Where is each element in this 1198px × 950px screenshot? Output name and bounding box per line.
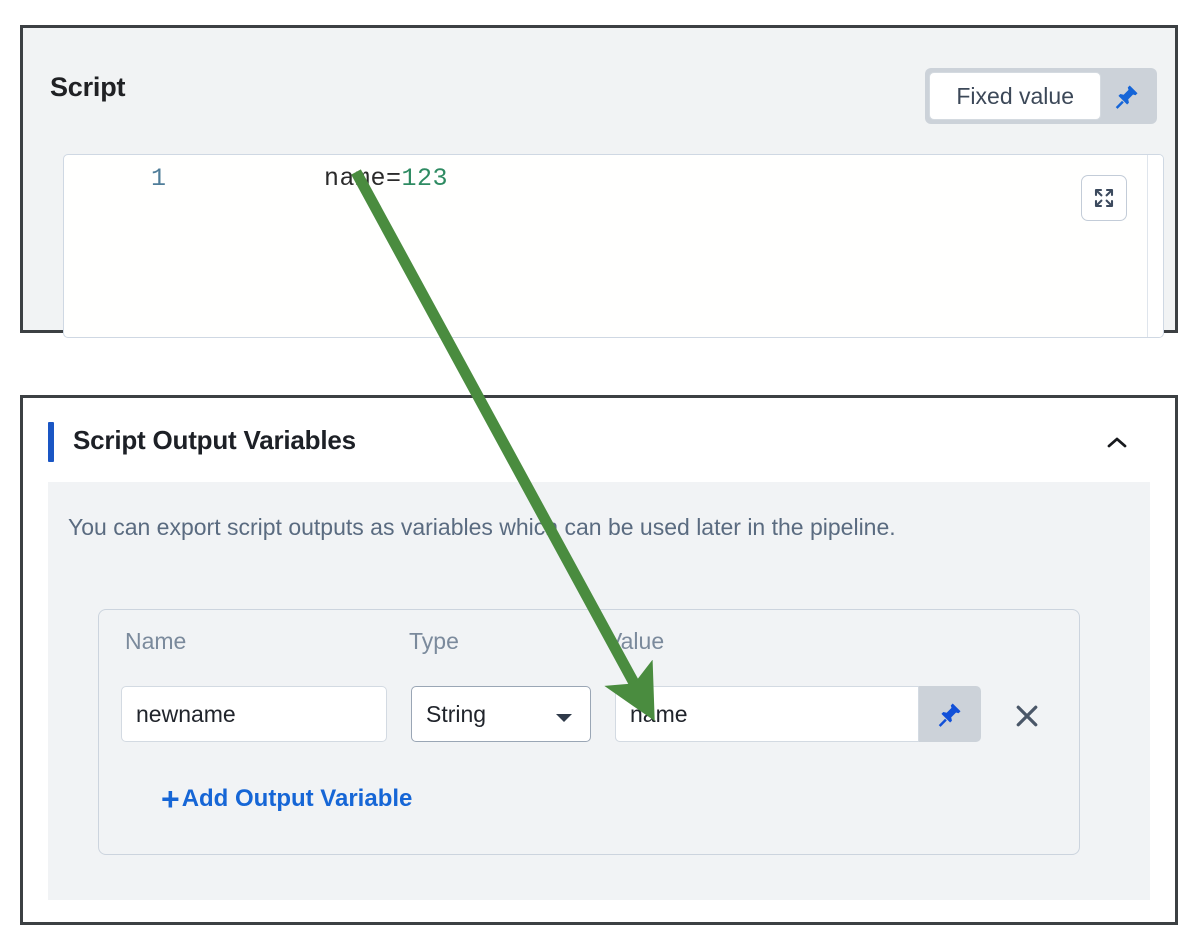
column-headers: Name Type Value — [99, 628, 1079, 672]
script-output-variables-panel: Script Output Variables You can export s… — [20, 395, 1178, 925]
expand-editor-button[interactable] — [1081, 175, 1127, 221]
variable-type-select[interactable]: String — [411, 686, 591, 742]
pin-icon — [1114, 83, 1140, 109]
section-body: You can export script outputs as variabl… — [48, 482, 1150, 900]
section-header: Script Output Variables — [23, 398, 1175, 482]
script-pin-button[interactable] — [1101, 72, 1153, 120]
fixed-value-button[interactable]: Fixed value — [929, 72, 1101, 120]
page-title: Script — [50, 72, 125, 103]
remove-variable-button[interactable] — [1009, 698, 1045, 734]
code-token-number: 123 — [402, 164, 449, 193]
collapse-section-button[interactable] — [1097, 426, 1137, 460]
variable-value-group: name — [615, 686, 981, 742]
column-header-name: Name — [125, 628, 186, 655]
script-panel-header: Script Fixed value — [23, 28, 1175, 113]
variable-name-input[interactable]: newname — [121, 686, 387, 742]
code-editor[interactable]: 1 name=123 — [63, 154, 1164, 338]
fixed-value-control-group: Fixed value — [925, 68, 1157, 124]
close-icon — [1012, 701, 1042, 731]
variable-type-value: String — [426, 701, 486, 728]
script-panel: Script Fixed value 1 name=123 — [20, 25, 1178, 333]
variable-value-input[interactable]: name — [615, 686, 919, 742]
section-description: You can export script outputs as variabl… — [68, 514, 896, 541]
output-variables-card: Name Type Value newname String name — [98, 609, 1080, 855]
plus-icon: + — [161, 783, 180, 815]
code-token-assignment: name= — [324, 164, 402, 193]
variable-value-pin-button[interactable] — [919, 686, 981, 742]
table-row: newname String name — [99, 686, 1079, 746]
chevron-up-icon — [1103, 433, 1131, 453]
expand-icon — [1092, 186, 1116, 210]
add-output-variable-button[interactable]: + Add Output Variable — [161, 783, 412, 815]
column-header-type: Type — [409, 628, 459, 655]
add-output-variable-label: Add Output Variable — [182, 785, 413, 813]
line-number: 1 — [64, 164, 176, 193]
code-content: name=123 — [176, 164, 448, 193]
section-accent-bar — [48, 422, 54, 462]
screenshot-root: Script Fixed value 1 name=123 — [0, 0, 1198, 950]
pin-icon — [937, 701, 963, 727]
section-title: Script Output Variables — [73, 425, 356, 456]
editor-scrollbar[interactable] — [1147, 155, 1163, 337]
code-line-1: 1 name=123 — [64, 155, 1163, 201]
chevron-down-icon — [554, 712, 574, 724]
column-header-value: Value — [607, 628, 664, 655]
